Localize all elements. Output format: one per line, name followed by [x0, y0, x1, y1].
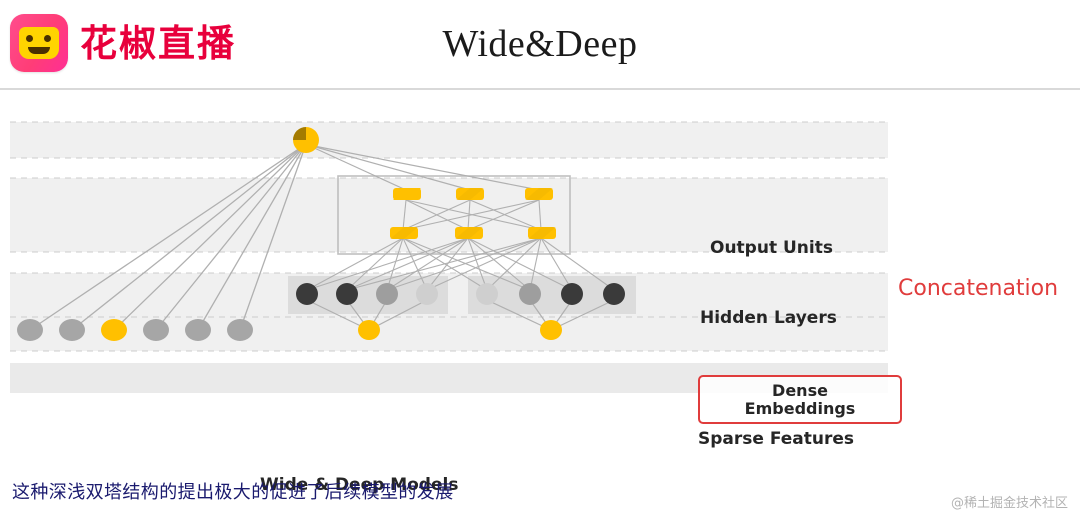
- label-output-units: Output Units: [710, 238, 833, 258]
- output-unit-node: [293, 127, 319, 153]
- sparse-feature-nodes: [17, 319, 562, 341]
- wide-edges: [30, 144, 306, 330]
- watermark: @稀土掘金技术社区: [951, 492, 1068, 511]
- slide: 花椒直播 Wide&Deep: [0, 0, 1080, 523]
- hidden-layer-nodes: [390, 188, 556, 239]
- slide-caption: 这种深浅双塔结构的提出极大的促进了后续模型的发展: [12, 478, 454, 504]
- dense-embedding-nodes: [296, 283, 625, 305]
- wide-and-deep-diagram: Output Units Hidden Layers Sparse Featur…: [10, 108, 888, 393]
- label-dense-line1: Dense: [772, 382, 828, 400]
- label-concatenation: Concatenation: [898, 276, 1058, 301]
- header-divider: [0, 88, 1080, 90]
- label-hidden-layers: Hidden Layers: [700, 308, 837, 328]
- hidden-to-output-edges: [310, 146, 539, 190]
- label-dense-line2: Embeddings: [745, 400, 856, 418]
- page-title: Wide&Deep: [0, 22, 1080, 66]
- hidden-internal-edges: [403, 200, 541, 230]
- label-dense-embeddings-box: Dense Embeddings: [698, 375, 902, 424]
- label-sparse-features: Sparse Features: [698, 429, 854, 449]
